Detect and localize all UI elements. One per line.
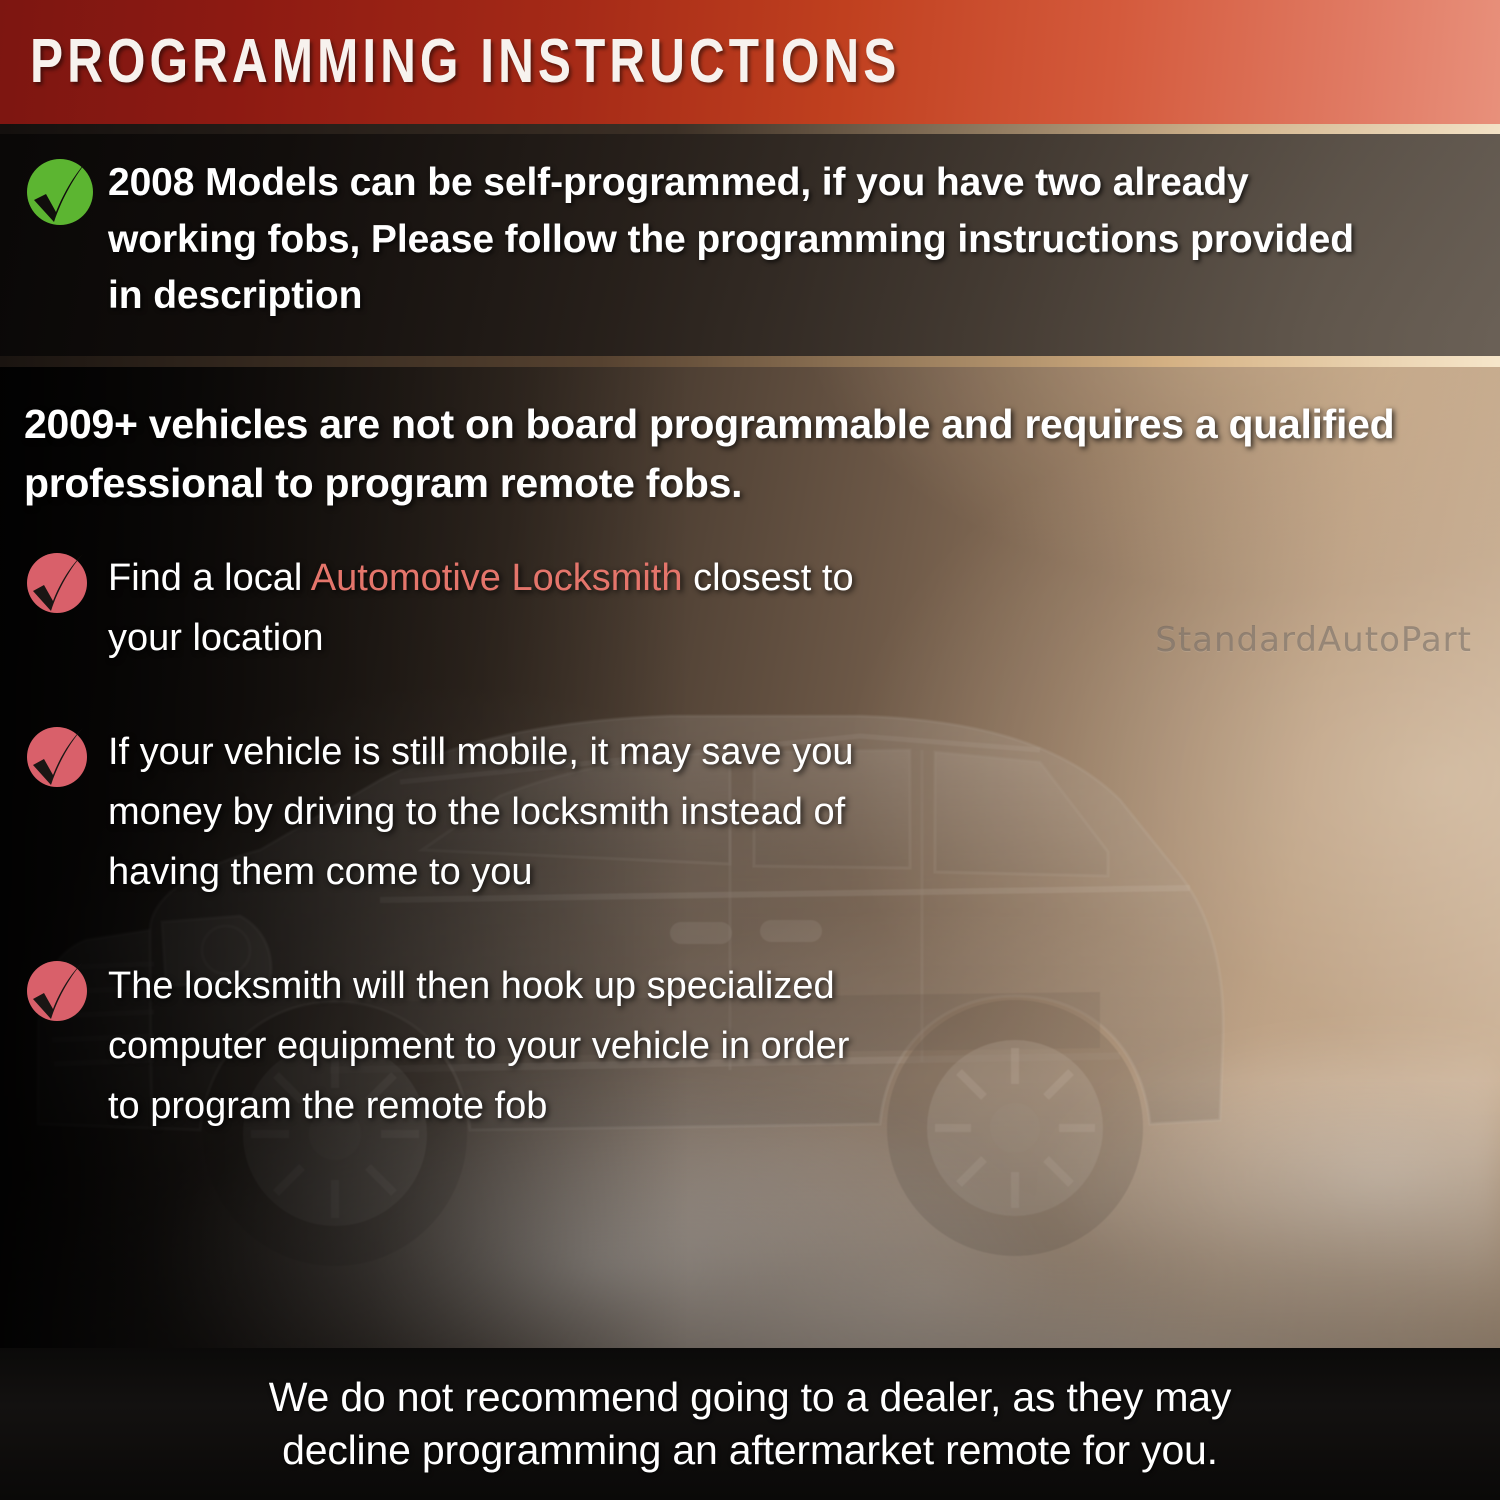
- list-item-text: If your vehicle is still mobile, it may …: [108, 722, 888, 902]
- list-item-text: Find a local Automotive Locksmith closes…: [108, 548, 888, 668]
- page-title: PROGRAMMING INSTRUCTIONS: [30, 26, 900, 97]
- red-check-circle-icon: [26, 726, 88, 788]
- list-item: Find a local Automotive Locksmith closes…: [26, 548, 926, 668]
- list-item: If your vehicle is still mobile, it may …: [26, 722, 926, 902]
- callout-text: 2008 Models can be self-programmed, if y…: [108, 155, 1378, 325]
- secondary-paragraph: 2009+ vehicles are not on board programm…: [24, 395, 1474, 514]
- red-check-circle-icon: [26, 552, 88, 614]
- list-item-text-before: Find a local: [108, 557, 311, 599]
- list-item-text: The locksmith will then hook up speciali…: [108, 956, 888, 1136]
- list-item: The locksmith will then hook up speciali…: [26, 956, 926, 1136]
- header-banner: PROGRAMMING INSTRUCTIONS: [0, 0, 1500, 124]
- callout-top-divider: [0, 124, 1500, 134]
- watermark: StandardAutoPart: [1155, 620, 1472, 660]
- callout-bottom-divider: [0, 356, 1500, 367]
- automotive-locksmith-highlight: Automotive Locksmith: [311, 557, 683, 599]
- footer-line-1: We do not recommend going to a dealer, a…: [269, 1371, 1231, 1424]
- footer-line-2: decline programming an aftermarket remot…: [269, 1424, 1231, 1477]
- red-check-circle-icon: [26, 960, 88, 1022]
- bullet-list: Find a local Automotive Locksmith closes…: [26, 548, 926, 1190]
- programming-instructions-graphic: PROGRAMMING INSTRUCTIONS 2008 Models can…: [0, 0, 1500, 1500]
- footer-text: We do not recommend going to a dealer, a…: [269, 1371, 1231, 1478]
- footer-banner: We do not recommend going to a dealer, a…: [0, 1348, 1500, 1500]
- green-check-circle-icon: [26, 158, 94, 226]
